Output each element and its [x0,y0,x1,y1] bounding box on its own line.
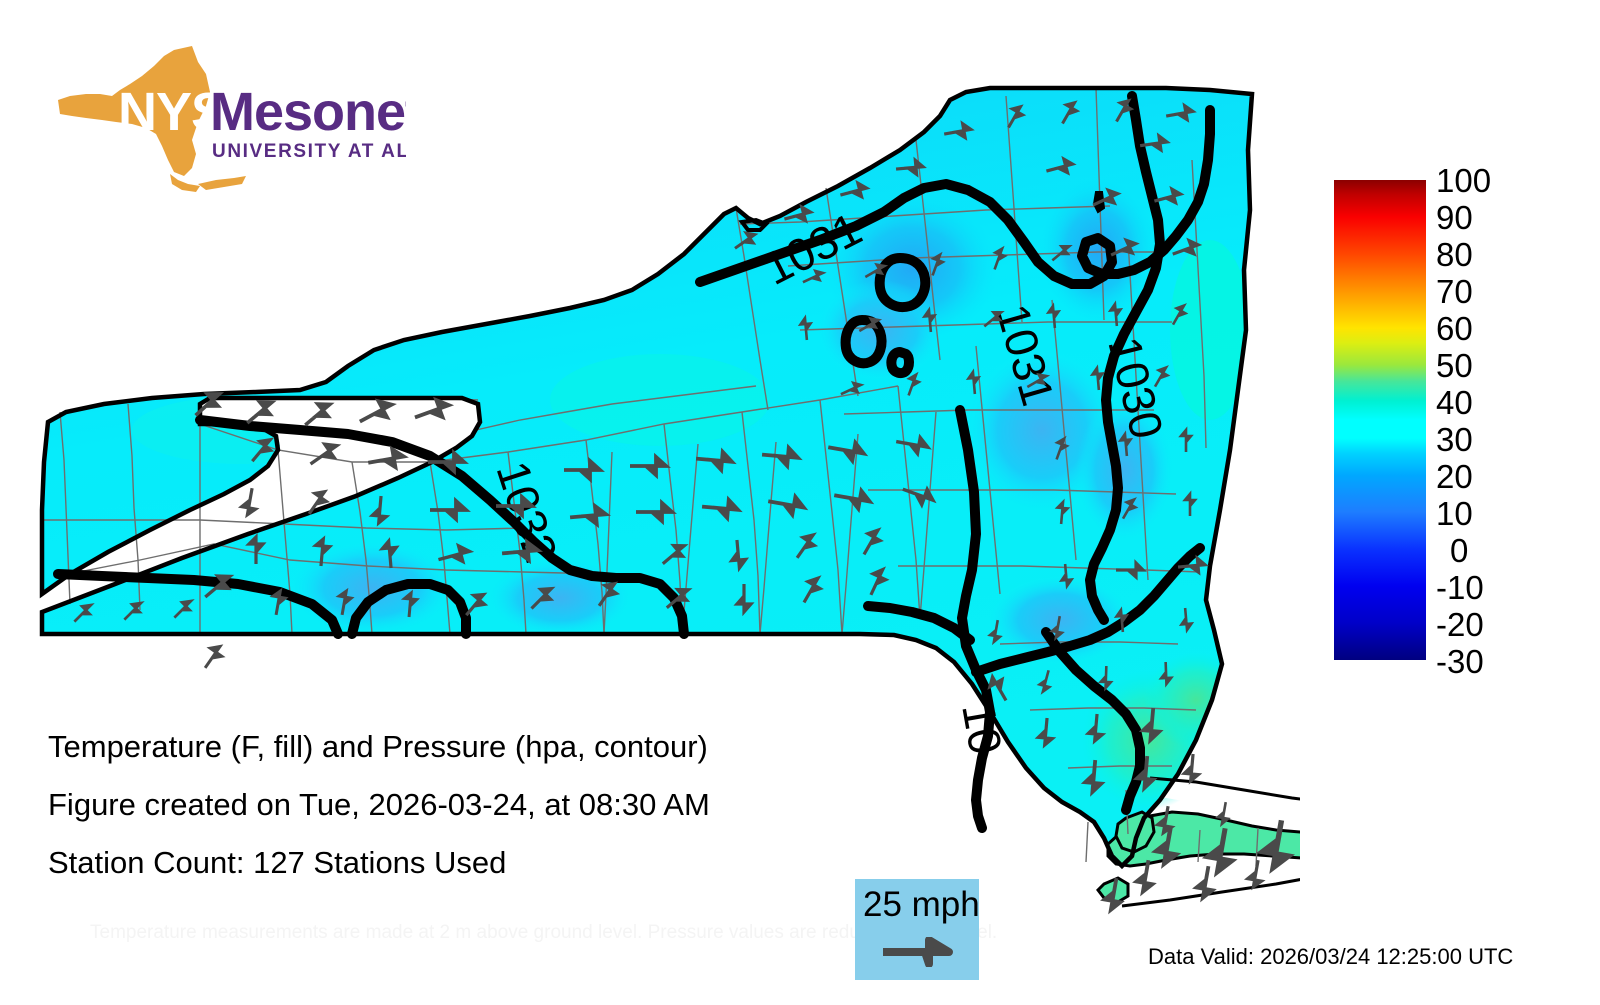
colorbar-tick-40: 40 [1436,386,1473,419]
wind-legend-label: 25 mph [863,883,980,927]
colorbar-tick-neg30: -30 [1436,645,1484,678]
colorbar-tick-20: 20 [1436,460,1473,493]
colorbar-tick-labels: 100 90 80 70 60 50 40 30 20 10 0 -10 -20… [1436,180,1576,660]
colorbar-gradient [1334,180,1426,660]
colorbar-tick-10: 10 [1436,497,1473,530]
colorbar-tick-neg20: -20 [1436,608,1484,641]
figure-caption-block: Temperature (F, fill) and Pressure (hpa,… [48,718,828,892]
caption-station-count: Station Count: 127 Stations Used [48,834,828,892]
colorbar-tick-0: 0 [1450,534,1468,567]
colorbar-tick-70: 70 [1436,275,1473,308]
contour-label-1030-partial: 10 [952,699,1012,758]
colorbar-tick-90: 90 [1436,201,1473,234]
data-valid-timestamp: Data Valid: 2026/03/24 12:25:00 UTC [1148,944,1513,970]
caption-title: Temperature (F, fill) and Pressure (hpa,… [48,718,828,776]
warm-strip-lake-ontario [550,354,770,446]
temperature-colorbar [1334,180,1426,660]
colorbar-tick-50: 50 [1436,349,1473,382]
wind-arrow-icon [881,937,957,967]
colorbar-tick-neg10: -10 [1436,571,1484,604]
colorbar-tick-60: 60 [1436,312,1473,345]
weather-map-page: NYS Mesonet UNIVERSITY AT ALBANY [0,0,1600,1000]
wind-speed-legend: 25 mph [855,879,979,980]
caption-created-time: Figure created on Tue, 2026-03-24, at 08… [48,776,828,834]
colorbar-tick-80: 80 [1436,238,1473,271]
colorbar-tick-30: 30 [1436,423,1473,456]
colorbar-tick-100: 100 [1436,164,1491,197]
caption-footnote: Temperature measurements are made at 2 m… [90,922,1290,944]
